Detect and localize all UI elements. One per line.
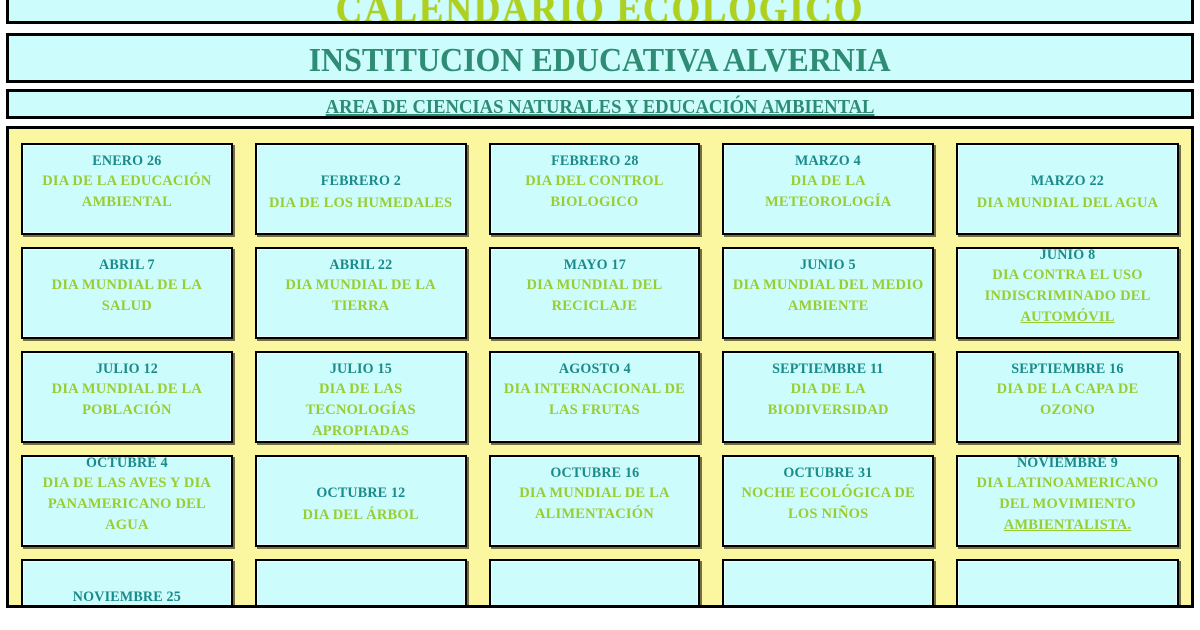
calendar-cell-date: NOVIEMBRE 25 — [30, 586, 224, 608]
calendar-cell-description-line: DIA INTERNACIONAL DE — [495, 379, 695, 400]
calendar-cell: JUNIO 5DIA MUNDIAL DEL MEDIOAMBIENTE — [722, 247, 934, 339]
calendar-cell-description-line: TIERRA — [261, 296, 461, 317]
calendar-cell: DICIEMBRE 10 — [489, 559, 701, 608]
calendar-cell: ABRIL 22DIA MUNDIAL DE LATIERRA — [255, 247, 467, 339]
spacer-1 — [0, 24, 1200, 33]
calendar-cell-date: NOVIEMBRE 9 — [965, 453, 1170, 473]
calendar-cell-description-line: DEL MOVIMIENTO — [962, 494, 1173, 515]
calendar-cell-date: MAYO 17 — [498, 255, 692, 275]
calendar-cell — [722, 559, 934, 608]
calendar-cell-date: DICIEMBRE 10 — [495, 607, 695, 608]
calendar-cell-description-line: DIA DEL ÁRBOL — [261, 504, 461, 526]
calendar-cell-date: JUNIO 8 — [965, 245, 1170, 265]
calendar-cell: FEBRERO 28DIA DEL CONTROLBIOLOGICO — [489, 143, 701, 235]
calendar-cell-description-line: PANAMERICANO DEL — [27, 494, 227, 515]
calendar-cell-description-line: DIA DEL CONTROL — [495, 171, 695, 192]
calendar-cell-description-line: DIA DE LA — [728, 379, 928, 400]
calendar-cell-date: OCTUBRE 12 — [264, 482, 458, 504]
poster-title: CALENDARIO ECOLÓGICO — [56, 0, 1143, 24]
calendar-cell: SEPTIEMBRE 16DIA DE LA CAPA DEOZONO — [956, 351, 1179, 443]
calendar-cell-description-line: DIA DE LAS TECNOLOGÍAS — [261, 379, 461, 421]
calendar-cell: FEBRERO 2DIA DE LOS HUMEDALES — [255, 143, 467, 235]
calendar-cell-date: FEBRERO 28 — [498, 151, 692, 171]
calendar-cell: OCTUBRE 12DIA DEL ÁRBOL — [255, 455, 467, 547]
calendar-cell: ABRIL 7DIA MUNDIAL DE LASALUD — [21, 247, 233, 339]
calendar-cell-date: ENERO 26 — [30, 151, 224, 171]
calendar-cell-description-line: INDISCRIMINADO DEL — [962, 286, 1173, 307]
calendar-cell-date: SEPTIEMBRE 11 — [731, 359, 925, 379]
calendar-cell-description-line: DIA MUNDIAL DEL MEDIO — [728, 275, 928, 296]
calendar-cell-date: FEBRERO 2 — [264, 170, 458, 192]
calendar-cell-description-line: DIA DE LOS HUMEDALES — [261, 192, 461, 214]
calendar-cell-date: MARZO 22 — [965, 170, 1170, 192]
calendar-cell-description-line: DIA DE LA EDUCACIÓN — [27, 171, 227, 192]
calendar-cell: NOVIEMBRE 9DIA LATINOAMERICANODEL MOVIMI… — [956, 455, 1179, 547]
spacer-3 — [0, 119, 1200, 126]
calendar-cell-description-line: LAS FRUTAS — [495, 400, 695, 421]
area-name: AREA DE CIENCIAS NATURALES Y EDUCACIÓN A… — [326, 92, 875, 119]
calendar-cell-description-line: POBLACIÓN — [27, 400, 227, 421]
calendar-cell-description-line: BIOLOGICO — [495, 192, 695, 213]
calendar-cell-description-line: DIA LATINOAMERICANO — [962, 473, 1173, 494]
calendar-cell-description-line: AMBIENTE — [728, 296, 928, 317]
calendar-cell-description-line: SALUD — [27, 296, 227, 317]
calendar-cell-description-line: LOS NIÑOS — [728, 504, 928, 525]
calendar-cell-description-line: BIODIVERSIDAD — [728, 400, 928, 421]
calendar-cell — [255, 559, 467, 608]
calendar-cell-description-line: DIA DE LA CAPA DE — [962, 379, 1173, 400]
calendar-cell-description-line: NOCHE ECOLÓGICA DE — [728, 483, 928, 504]
calendar-cell: Caso Ambiental — [956, 559, 1179, 608]
poster-title-banner: CALENDARIO ECOLÓGICO — [6, 0, 1194, 24]
calendar-cell-date: SEPTIEMBRE 16 — [965, 359, 1170, 379]
school-name-banner: INSTITUCION EDUCATIVA ALVERNIA — [6, 33, 1194, 83]
calendar-cell-description-line: DIA MUNDIAL DE LA — [27, 379, 227, 400]
calendar-grid: ENERO 26DIA DE LA EDUCACIÓNAMBIENTALFEBR… — [21, 143, 1179, 608]
calendar-cell-description-line: DIA MUNDIAL DE LA — [261, 275, 461, 296]
calendar-cell: MARZO 4DIA DE LAMETEOROLOGÍA — [722, 143, 934, 235]
calendar-cell-date: AGOSTO 4 — [498, 359, 692, 379]
calendar-cell-description-line: OZONO — [962, 400, 1173, 421]
calendar-cell-date: JUNIO 5 — [731, 255, 925, 275]
calendar-cell: SEPTIEMBRE 11DIA DE LABIODIVERSIDAD — [722, 351, 934, 443]
calendar-cell-date: ABRIL 22 — [264, 255, 458, 275]
calendar-cell-description-line: APROPIADAS — [261, 421, 461, 442]
calendar-cell-description-line: RECICLAJE — [495, 296, 695, 317]
calendar-cell-description-line: DIA CONTRA EL USO — [962, 265, 1173, 286]
calendar-cell-description-line: AGUA — [27, 515, 227, 536]
calendar-cell-date: JULIO 15 — [264, 359, 458, 379]
calendar-cell-description-line: AMBIENTAL — [27, 192, 227, 213]
calendar-cell-description-line: METEOROLOGÍA — [728, 192, 928, 213]
calendar-cell-description-line: DIA DE LA — [728, 171, 928, 192]
calendar-cell-description-line: DIA MUNDIAL DE LA — [495, 483, 695, 504]
calendar-board: ENERO 26DIA DE LA EDUCACIÓNAMBIENTALFEBR… — [6, 126, 1194, 608]
calendar-cell-description-line: AMBIENTALISTA. — [962, 515, 1173, 536]
calendar-cell: AGOSTO 4DIA INTERNACIONAL DELAS FRUTAS — [489, 351, 701, 443]
calendar-cell: JULIO 15DIA DE LAS TECNOLOGÍASAPROPIADAS — [255, 351, 467, 443]
calendar-cell: ENERO 26DIA DE LA EDUCACIÓNAMBIENTAL — [21, 143, 233, 235]
calendar-poster: CALENDARIO ECOLÓGICO INSTITUCION EDUCATI… — [0, 0, 1200, 620]
calendar-cell-date: OCTUBRE 16 — [498, 463, 692, 483]
calendar-cell: JULIO 12DIA MUNDIAL DE LAPOBLACIÓN — [21, 351, 233, 443]
calendar-cell: OCTUBRE 4DIA DE LAS AVES Y DIAPANAMERICA… — [21, 455, 233, 547]
calendar-cell: MAYO 17DIA MUNDIAL DELRECICLAJE — [489, 247, 701, 339]
calendar-cell-description-line: DIA MUNDIAL DE LA — [27, 275, 227, 296]
calendar-cell-script-note: Caso Ambiental — [962, 601, 1173, 608]
calendar-cell-description-line: DIA DE LAS AVES Y DIA — [27, 473, 227, 494]
calendar-cell-date: JULIO 12 — [30, 359, 224, 379]
area-banner: AREA DE CIENCIAS NATURALES Y EDUCACIÓN A… — [6, 89, 1194, 119]
calendar-cell: JUNIO 8DIA CONTRA EL USOINDISCRIMINADO D… — [956, 247, 1179, 339]
calendar-cell-description-line: DIA MUNDIAL DEL — [495, 275, 695, 296]
calendar-cell-description-line: AUTOMÓVIL — [962, 307, 1173, 328]
calendar-cell-description-line: ALIMENTACIÓN — [495, 504, 695, 525]
calendar-cell-date: OCTUBRE 4 — [30, 453, 224, 473]
calendar-cell-description-line: DIA MUNDIAL DEL AGUA — [962, 192, 1173, 214]
calendar-cell: NOVIEMBRE 25DIA MUNDIAL CONTRA EL — [21, 559, 233, 608]
calendar-cell: MARZO 22DIA MUNDIAL DEL AGUA — [956, 143, 1179, 235]
calendar-cell: OCTUBRE 31NOCHE ECOLÓGICA DELOS NIÑOS — [722, 455, 934, 547]
calendar-cell-date: OCTUBRE 31 — [731, 463, 925, 483]
calendar-cell-date: MARZO 4 — [731, 151, 925, 171]
calendar-cell: OCTUBRE 16DIA MUNDIAL DE LAALIMENTACIÓN — [489, 455, 701, 547]
school-name: INSTITUCION EDUCATIVA ALVERNIA — [309, 36, 891, 83]
calendar-cell-date: ABRIL 7 — [30, 255, 224, 275]
